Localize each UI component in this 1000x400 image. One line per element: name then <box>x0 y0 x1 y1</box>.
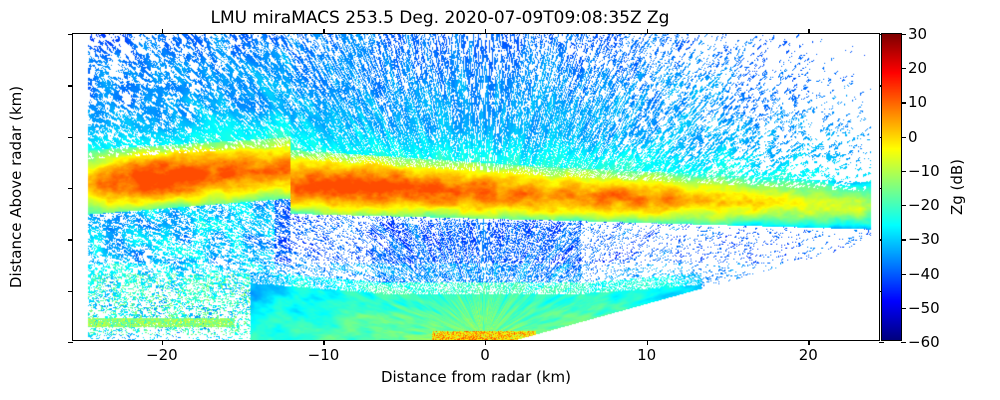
y-tick <box>68 188 73 189</box>
x-tick-top <box>162 29 163 34</box>
y-axis-title: Distance Above radar (km) <box>7 86 25 288</box>
colorbar-tick <box>901 68 906 69</box>
colorbar: −60−50−40−30−20−100102030 <box>881 33 902 341</box>
colorbar-tick <box>901 205 906 206</box>
colorbar-tick-label: 10 <box>908 93 927 111</box>
x-tick-label: 0 <box>480 346 490 364</box>
x-axis-title: Distance from radar (km) <box>72 368 880 386</box>
y-tick <box>68 137 73 138</box>
colorbar-tick <box>901 171 906 172</box>
y-tick-label: 12 <box>0 25 65 43</box>
figure-canvas: LMU miraMACS 253.5 Deg. 2020-07-09T09:08… <box>0 0 1000 400</box>
colorbar-tick <box>901 274 906 275</box>
x-tick-label: −20 <box>146 346 178 364</box>
x-tick-top <box>485 29 486 34</box>
plot-axes: 024681012−20−1001020 <box>72 33 880 341</box>
colorbar-tick-label: 20 <box>908 59 927 77</box>
x-tick-top <box>647 29 648 34</box>
x-tick <box>485 340 486 345</box>
x-tick-top <box>808 29 809 34</box>
x-tick <box>323 340 324 345</box>
colorbar-tick <box>901 308 906 309</box>
y-tick <box>68 291 73 292</box>
page-title: LMU miraMACS 253.5 Deg. 2020-07-09T09:08… <box>0 8 880 28</box>
colorbar-tick-label: −30 <box>908 230 940 248</box>
colorbar-gradient <box>882 34 901 340</box>
y-axis-title-wrap: Distance Above radar (km) <box>22 0 23 400</box>
colorbar-tick-label: −20 <box>908 196 940 214</box>
y-tick-right <box>879 342 884 343</box>
y-tick <box>68 85 73 86</box>
colorbar-tick-label: 30 <box>908 25 927 43</box>
y-tick <box>68 34 73 35</box>
x-tick-label: 20 <box>799 346 818 364</box>
x-tick-top <box>323 29 324 34</box>
colorbar-tick <box>901 137 906 138</box>
colorbar-tick <box>901 102 906 103</box>
x-tick-label: −10 <box>308 346 340 364</box>
colorbar-tick <box>901 34 906 35</box>
colorbar-tick-label: −50 <box>908 299 940 317</box>
colorbar-title: Zg (dB) <box>948 159 966 215</box>
colorbar-tick-label: −10 <box>908 162 940 180</box>
x-tick-label: 10 <box>637 346 656 364</box>
y-tick <box>68 342 73 343</box>
colorbar-tick-label: −60 <box>908 333 940 351</box>
colorbar-tick <box>901 239 906 240</box>
colorbar-tick <box>901 342 906 343</box>
x-tick <box>808 340 809 345</box>
x-tick <box>647 340 648 345</box>
radar-reflectivity-heatmap <box>73 34 879 340</box>
colorbar-tick-label: 0 <box>908 128 918 146</box>
x-tick <box>162 340 163 345</box>
colorbar-tick-label: −40 <box>908 265 940 283</box>
y-tick-label: 0 <box>0 333 65 351</box>
y-tick <box>68 239 73 240</box>
